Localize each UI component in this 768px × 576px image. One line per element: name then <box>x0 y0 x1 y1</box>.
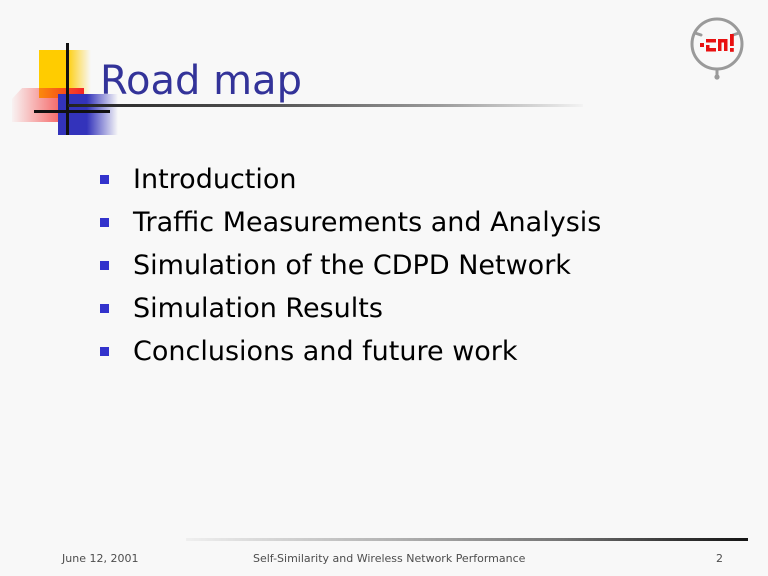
cnl-logo-icon <box>686 14 748 82</box>
horizontal-rule-shape <box>34 110 110 113</box>
list-item-label: Simulation of the CDPD Network <box>133 250 571 282</box>
footer-presentation-title: Self-Similarity and Wireless Network Per… <box>253 552 525 566</box>
bullet-square-icon <box>100 261 109 270</box>
footer-page-number: 2 <box>716 552 723 566</box>
list-item[interactable]: Introduction <box>100 158 700 201</box>
bullet-list: Introduction Traffic Measurements and An… <box>100 158 700 373</box>
list-item[interactable]: Simulation Results <box>100 287 700 330</box>
slide-canvas: Road map Introduction <box>0 0 768 576</box>
list-item-label: Introduction <box>133 164 297 196</box>
bullet-square-icon <box>100 347 109 356</box>
list-item-label: Conclusions and future work <box>133 336 518 368</box>
bullet-square-icon <box>100 175 109 184</box>
list-item[interactable]: Conclusions and future work <box>100 330 700 373</box>
footer-date: June 12, 2001 <box>62 552 138 566</box>
list-item[interactable]: Simulation of the CDPD Network <box>100 244 700 287</box>
bullet-square-icon <box>100 218 109 227</box>
list-item-label: Simulation Results <box>133 293 383 325</box>
vertical-rule-shape <box>66 43 69 135</box>
title-underline <box>68 104 583 107</box>
list-item[interactable]: Traffic Measurements and Analysis <box>100 201 700 244</box>
footer-divider <box>186 538 748 541</box>
bullet-square-icon <box>100 304 109 313</box>
slide-title: Road map <box>100 57 302 105</box>
cnl-logo <box>686 14 748 82</box>
list-item-label: Traffic Measurements and Analysis <box>133 207 601 239</box>
